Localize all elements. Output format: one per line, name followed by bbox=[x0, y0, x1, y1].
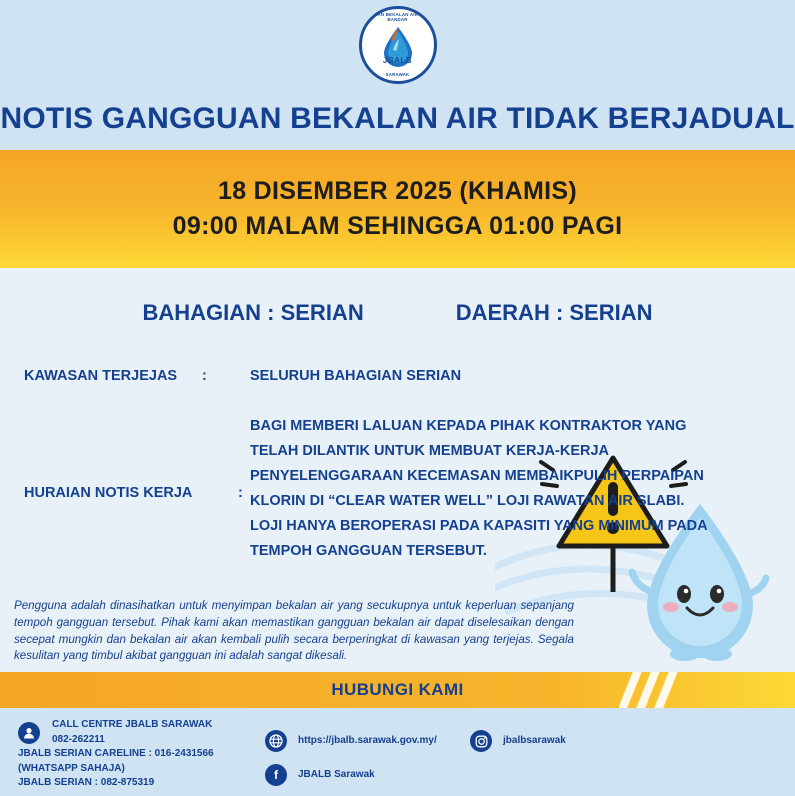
instagram-handle[interactable]: jbalbsarawak bbox=[503, 735, 566, 746]
facebook-icon[interactable]: f bbox=[265, 764, 287, 786]
disclaimer-text: Pengguna adalah dinasihatkan untuk menyi… bbox=[14, 598, 574, 665]
page-title: NOTIS GANGGUAN BEKALAN AIR TIDAK BERJADU… bbox=[1, 102, 795, 136]
kawasan-terjejas-label: KAWASAN TERJEJAS bbox=[24, 368, 177, 384]
call-centre-label: CALL CENTRE JBALB SARAWAK bbox=[18, 718, 273, 733]
logo-abbr: JBALB bbox=[362, 56, 434, 65]
body-area: BAHAGIAN : SERIAN DAERAH : SERIAN KAWASA… bbox=[0, 268, 795, 672]
date-band: 18 DISEMBER 2025 (KHAMIS) 09:00 MALAM SE… bbox=[0, 150, 795, 268]
region-row: BAHAGIAN : SERIAN DAERAH : SERIAN bbox=[0, 300, 795, 326]
daerah-label: DAERAH : SERIAN bbox=[456, 300, 653, 326]
globe-icon[interactable] bbox=[265, 730, 287, 752]
kawasan-colon: : bbox=[202, 368, 207, 384]
careline-note: (WHATSAPP SAHAJA) bbox=[18, 762, 273, 777]
instagram-icon[interactable] bbox=[470, 730, 492, 752]
footer: CALL CENTRE JBALB SARAWAK 082-262211 JBA… bbox=[0, 708, 795, 796]
contact-bar-title: HUBUNGI KAMI bbox=[331, 680, 463, 700]
decorative-slashes bbox=[619, 672, 683, 708]
huraian-notis-kerja-value: BAGI MEMBERI LALUAN KEPADA PIHAK KONTRAK… bbox=[250, 414, 710, 564]
kawasan-terjejas-value: SELURUH BAHAGIAN SERIAN bbox=[250, 368, 770, 384]
careline-label: JBALB SERIAN CARELINE : 016-2431566 bbox=[18, 747, 273, 762]
notice-date: 18 DISEMBER 2025 (KHAMIS) bbox=[218, 177, 577, 206]
notice-poster: JABATAN BEKALAN AIR LUAR BANDAR JBALB SA… bbox=[0, 0, 795, 796]
title-band: NOTIS GANGGUAN BEKALAN AIR TIDAK BERJADU… bbox=[0, 88, 795, 150]
call-centre-block: CALL CENTRE JBALB SARAWAK 082-262211 JBA… bbox=[18, 718, 273, 791]
huraian-colon: : bbox=[238, 485, 243, 501]
serian-number: JBALB SERIAN : 082-875319 bbox=[18, 776, 273, 791]
notice-time: 09:00 MALAM SEHINGGA 01:00 PAGI bbox=[173, 212, 623, 241]
bahagian-label: BAHAGIAN : SERIAN bbox=[142, 300, 363, 326]
logo-ring-top-text: JABATAN BEKALAN AIR LUAR BANDAR bbox=[362, 12, 434, 22]
jbalb-logo: JABATAN BEKALAN AIR LUAR BANDAR JBALB SA… bbox=[359, 6, 437, 84]
website-link[interactable]: https://jbalb.sarawak.gov.my/ bbox=[298, 735, 437, 746]
contact-bar: HUBUNGI KAMI bbox=[0, 672, 795, 708]
call-centre-number: 082-262211 bbox=[18, 733, 273, 748]
header-band: JABATAN BEKALAN AIR LUAR BANDAR JBALB SA… bbox=[0, 0, 795, 88]
facebook-handle[interactable]: JBALB Sarawak bbox=[298, 769, 375, 780]
huraian-notis-kerja-label: HURAIAN NOTIS KERJA bbox=[24, 485, 192, 501]
logo-ring-bottom-text: SARAWAK bbox=[362, 72, 434, 77]
water-drop-icon bbox=[381, 26, 415, 73]
logo-circle: JABATAN BEKALAN AIR LUAR BANDAR JBALB SA… bbox=[359, 6, 437, 84]
